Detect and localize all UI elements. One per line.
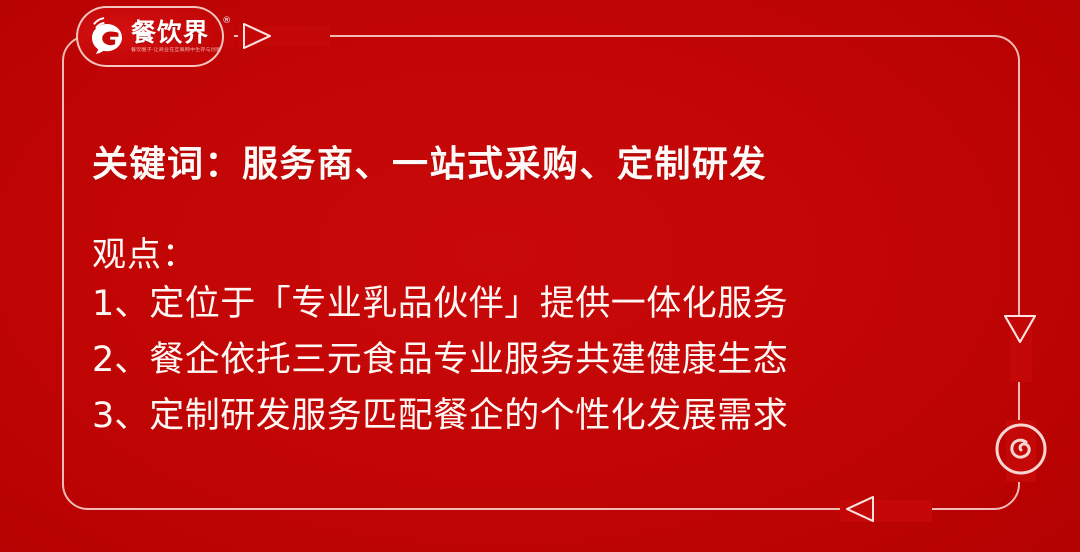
brand-subtitle: 餐饮圈子·让商业在互联网中生存与创新 [131,48,221,53]
keywords-line: 关键词：服务商、一站式采购、定制研发 [92,142,972,187]
speech-bubble-c-icon [85,15,129,59]
list-item: 3、定制研发服务匹配餐企的个性化发展需求 [92,388,972,444]
poster-content: 关键词：服务商、一站式采购、定制研发 观点： 1、定位于「专业乳品伙伴」提供一体… [92,142,972,444]
brand-logo: 餐饮界® 餐饮圈子·让商业在互联网中生存与创新 [76,6,224,67]
list-item: 1、定位于「专业乳品伙伴」提供一体化服务 [92,276,972,332]
viewpoint-label: 观点： [92,235,972,276]
list-item-number: 3、 [92,396,149,436]
brand-wordmark: 餐饮界® 餐饮圈子·让商业在互联网中生存与创新 [131,20,221,53]
list-item: 2、餐企依托三元食品专业服务共建健康生态 [92,332,972,388]
brand-name: 餐饮界 [131,18,209,47]
spiral-icon [994,422,1048,476]
list-item-text: 定制研发服务匹配餐企的个性化发展需求 [149,396,788,436]
registered-mark: ® [222,17,232,26]
list-item-number: 2、 [92,340,149,380]
list-item-text: 定位于「专业乳品伙伴」提供一体化服务 [149,284,788,324]
list-item-text: 餐企依托三元食品专业服务共建健康生态 [149,340,788,380]
list-item-number: 1、 [92,284,149,324]
poster-canvas: 餐饮界® 餐饮圈子·让商业在互联网中生存与创新 [0,0,1080,552]
viewpoint-list: 1、定位于「专业乳品伙伴」提供一体化服务 2、餐企依托三元食品专业服务共建健康生… [92,276,972,444]
